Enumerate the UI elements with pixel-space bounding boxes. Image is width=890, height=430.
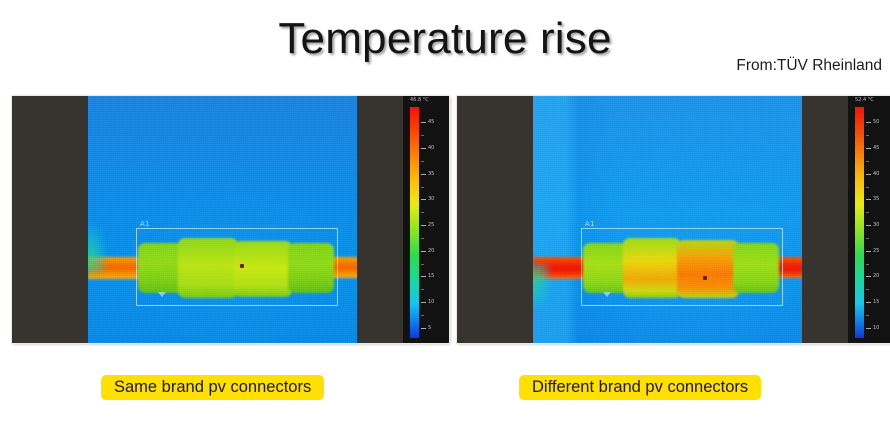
scale-tick-label: 10 <box>428 300 434 305</box>
scale-tick <box>421 225 426 226</box>
scale-tick-label: 20 <box>873 274 879 279</box>
scale-max-readout-left: 46.8 °C <box>410 98 429 103</box>
scale-minor-tick <box>421 161 424 162</box>
scale-minor-tick <box>866 135 869 136</box>
source-credit: From:TÜV Rheinland <box>736 57 882 75</box>
measurement-box-label-left: A1 <box>140 220 150 228</box>
scale-minor-tick <box>866 289 869 290</box>
scale-tick <box>421 328 426 329</box>
scale-minor-tick <box>421 212 424 213</box>
scale-tick <box>866 199 871 200</box>
scale-tick-label: 30 <box>873 223 879 228</box>
caption-badge-right: Different brand pv connectors <box>519 375 761 400</box>
panel-matte-left <box>457 96 533 343</box>
thermal-image-right[interactable]: A1 52.4 °C 504540353025201510 <box>457 96 890 343</box>
measurement-box-right <box>581 228 783 306</box>
measurement-caret-right <box>603 292 611 297</box>
scale-tick-label: 5 <box>428 326 431 331</box>
scale-tick <box>866 174 871 175</box>
scale-minor-tick <box>866 238 869 239</box>
thermal-image-left[interactable]: A1 46.8 °C 45403530252015105 <box>12 96 449 343</box>
panel-matte-right <box>802 96 848 343</box>
scale-minor-tick <box>421 289 424 290</box>
scale-tick-label: 45 <box>428 120 434 125</box>
scale-tick-label: 10 <box>873 326 879 331</box>
scale-minor-tick <box>866 264 869 265</box>
scale-tick <box>421 276 426 277</box>
scale-tick-label: 15 <box>428 274 434 279</box>
measurement-caret-left <box>158 292 166 297</box>
scale-tick <box>421 174 426 175</box>
scale-tick <box>421 251 426 252</box>
scale-tick-label: 25 <box>873 249 879 254</box>
color-scale-ticks-right: 504540353025201510 <box>866 107 890 338</box>
scale-tick-label: 35 <box>873 197 879 202</box>
scale-tick <box>866 328 871 329</box>
color-scale-left: 46.8 °C 45403530252015105 <box>403 96 449 343</box>
scale-minor-tick <box>421 238 424 239</box>
scale-minor-tick <box>866 161 869 162</box>
scale-tick-label: 20 <box>428 249 434 254</box>
color-scale-gradient-right <box>855 107 864 338</box>
scale-tick-label: 30 <box>428 197 434 202</box>
scale-tick-label: 35 <box>428 172 434 177</box>
scale-tick <box>421 302 426 303</box>
scale-minor-tick <box>421 264 424 265</box>
scale-minor-tick <box>866 315 869 316</box>
measurement-point-marker-left <box>240 264 244 268</box>
scale-tick-label: 50 <box>873 120 879 125</box>
measurement-box-label-right: A1 <box>585 220 595 228</box>
scale-tick <box>866 122 871 123</box>
scale-tick-label: 15 <box>873 300 879 305</box>
scale-tick <box>866 276 871 277</box>
scale-tick-label: 40 <box>873 172 879 177</box>
scale-tick-label: 45 <box>873 146 879 151</box>
panel-matte-left <box>12 96 88 343</box>
scale-minor-tick <box>421 187 424 188</box>
scale-minor-tick <box>866 187 869 188</box>
color-scale-ticks-left: 45403530252015105 <box>421 107 447 338</box>
scale-minor-tick <box>421 315 424 316</box>
scale-tick-label: 25 <box>428 223 434 228</box>
panel-matte-right <box>357 96 403 343</box>
scale-tick <box>866 148 871 149</box>
scale-tick <box>421 199 426 200</box>
measurement-point-marker-right <box>703 276 707 280</box>
scale-max-readout-right: 52.4 °C <box>855 98 874 103</box>
scale-tick <box>866 225 871 226</box>
scale-tick <box>866 251 871 252</box>
color-scale-right: 52.4 °C 504540353025201510 <box>848 96 890 343</box>
scale-minor-tick <box>421 135 424 136</box>
color-scale-gradient-left <box>410 107 419 338</box>
caption-badge-left: Same brand pv connectors <box>101 375 324 400</box>
measurement-box-left <box>136 228 338 306</box>
scale-minor-tick <box>866 212 869 213</box>
scale-tick <box>866 302 871 303</box>
scale-tick <box>421 148 426 149</box>
scale-tick-label: 40 <box>428 146 434 151</box>
scale-tick <box>421 122 426 123</box>
